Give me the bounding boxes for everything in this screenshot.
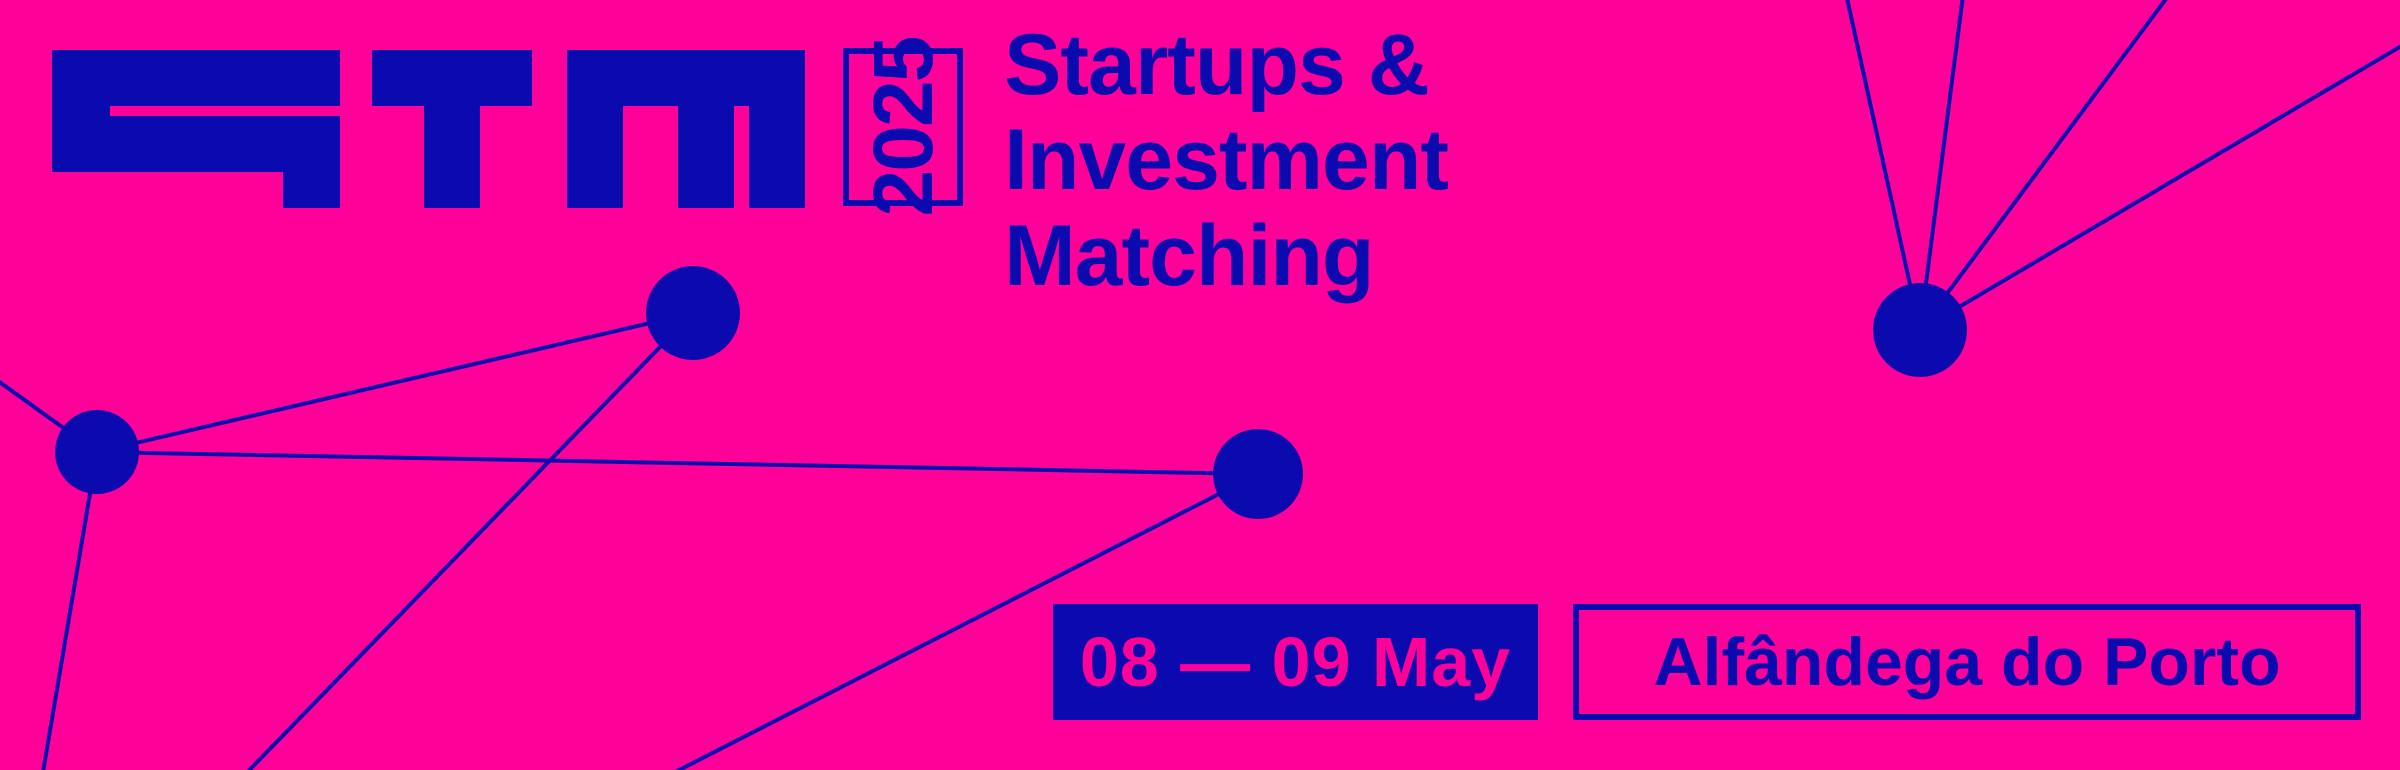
network-edge xyxy=(1843,0,1920,330)
network-node-logo xyxy=(646,266,740,360)
network-edge xyxy=(1920,0,2180,330)
network-node-left xyxy=(55,410,139,494)
network-edge xyxy=(40,452,97,770)
network-edge xyxy=(97,313,693,452)
event-banner: 2025 Startups & Investment Matching 08 —… xyxy=(0,0,2400,770)
network-node-center xyxy=(1213,429,1303,519)
sim-wordmark-logo xyxy=(52,50,805,208)
network-edge xyxy=(640,474,1258,770)
banner-artwork xyxy=(0,0,2400,770)
network-edge xyxy=(97,452,1258,474)
network-edge xyxy=(1920,35,2400,330)
network-node-right xyxy=(1873,283,1967,377)
network-edges xyxy=(0,0,2400,770)
network-edge xyxy=(230,313,693,770)
network-nodes xyxy=(55,266,1967,519)
